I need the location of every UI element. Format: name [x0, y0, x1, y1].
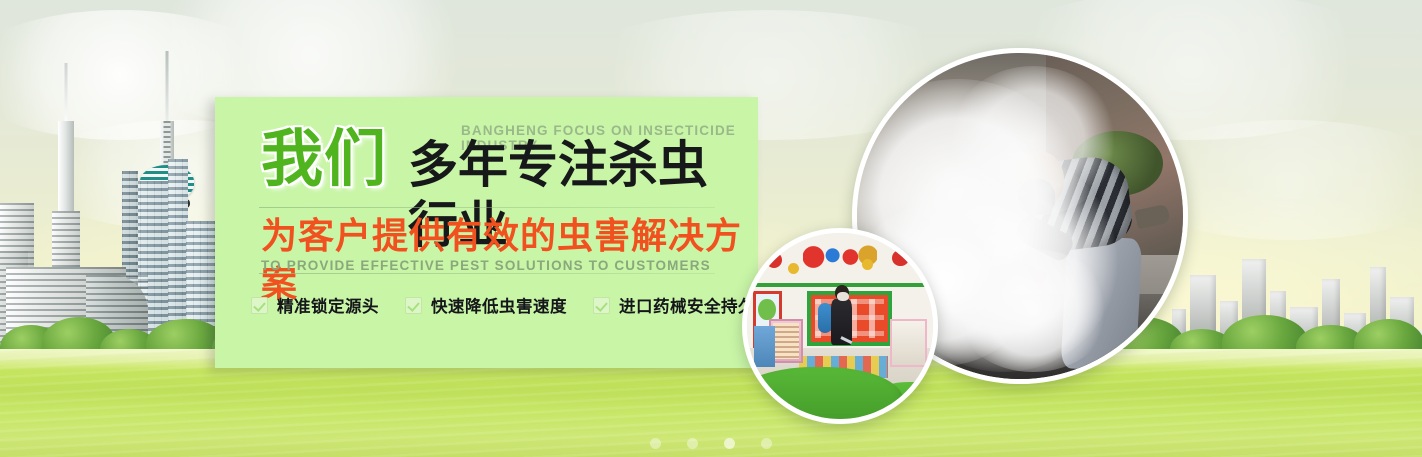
headline-panel: BANGHENG FOCUS ON INSECTICIDE INDUSTRY 我…: [215, 97, 758, 368]
carousel-dot-3[interactable]: [724, 438, 735, 449]
feature-label: 进口药械安全持久: [619, 293, 755, 317]
carousel-dot-2[interactable]: [687, 438, 698, 449]
headline-row: BANGHENG FOCUS ON INSECTICIDE INDUSTRY 我…: [261, 125, 741, 197]
feature-label: 精准锁定源头: [277, 293, 379, 317]
feature-list: 精准锁定源头 快速降低虫害速度 进口药械安全持久: [251, 293, 781, 317]
check-icon: [251, 297, 268, 314]
divider-bottom: [259, 273, 715, 274]
carousel-dot-1[interactable]: [650, 438, 661, 449]
feature-item: 进口药械安全持久: [593, 293, 755, 317]
divider-top: [259, 207, 715, 208]
hero-banner: BANGHENG FOCUS ON INSECTICIDE INDUSTRY 我…: [0, 0, 1422, 457]
feature-item: 精准锁定源头: [251, 293, 379, 317]
classroom-spraying-photo: [742, 228, 938, 424]
carousel-dots[interactable]: [650, 438, 772, 449]
english-tagline-bottom: TO PROVIDE EFFECTIVE PEST SOLUTIONS TO C…: [261, 258, 711, 273]
check-icon: [405, 297, 422, 314]
feature-item: 快速降低虫害速度: [405, 293, 567, 317]
headline-highlight: 我们: [261, 125, 387, 195]
worker-figure: [829, 285, 855, 367]
check-icon: [593, 297, 610, 314]
feature-label: 快速降低虫害速度: [431, 293, 567, 317]
carousel-dot-4[interactable]: [761, 438, 772, 449]
